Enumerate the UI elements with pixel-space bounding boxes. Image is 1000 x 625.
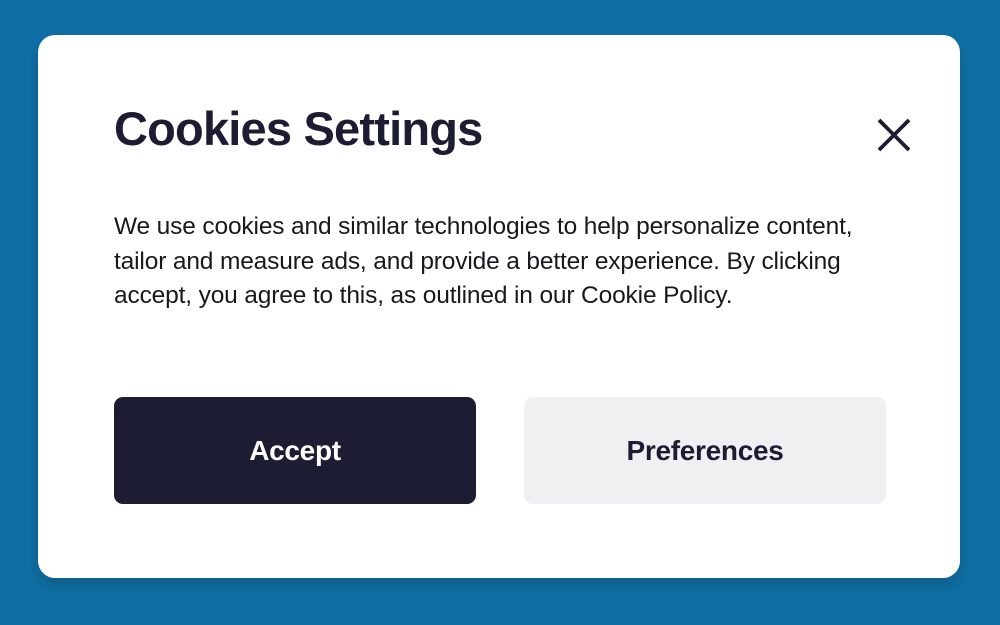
page-background: Cookies Settings We use cookies and simi… — [0, 0, 1000, 625]
close-button[interactable] — [870, 111, 918, 159]
dialog-body-text: We use cookies and similar technologies … — [114, 210, 904, 314]
close-icon — [874, 115, 914, 155]
dialog-title: Cookies Settings — [114, 101, 483, 157]
dialog-header: Cookies Settings — [114, 101, 924, 171]
cookies-settings-dialog: Cookies Settings We use cookies and simi… — [38, 35, 960, 578]
preferences-button[interactable]: Preferences — [524, 397, 886, 504]
dialog-actions: Accept Preferences — [114, 397, 886, 504]
accept-button[interactable]: Accept — [114, 397, 476, 504]
